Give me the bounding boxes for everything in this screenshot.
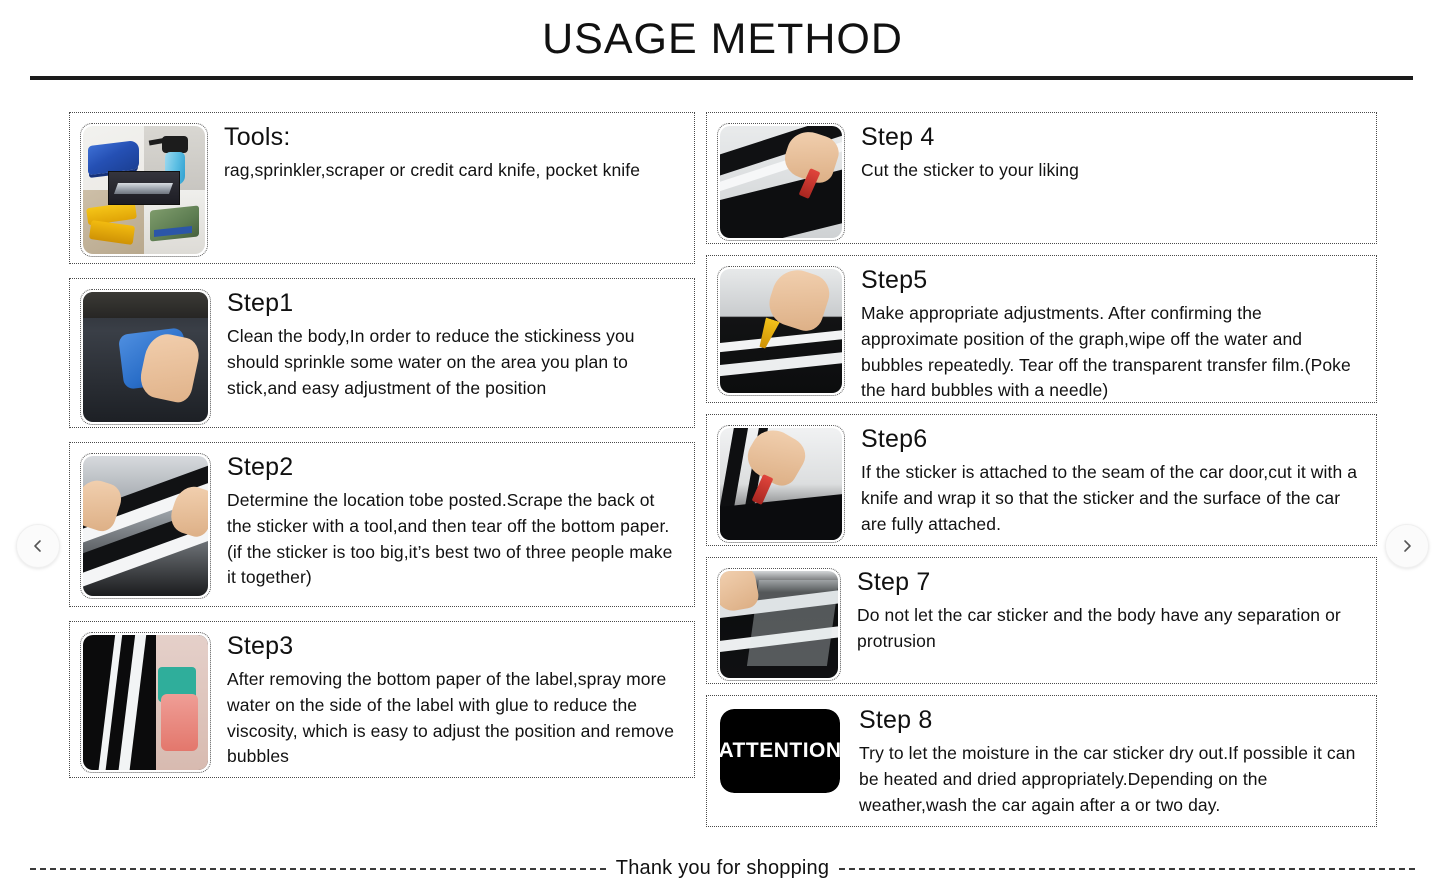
step2-thumbnail — [80, 453, 211, 599]
card-step3: Step3 After removing the bottom paper of… — [69, 621, 695, 778]
card-step4: Step 4 Cut the sticker to your liking — [706, 112, 1377, 244]
card-body: Step1 Clean the body,In order to reduce … — [211, 289, 682, 401]
step3-thumbnail — [80, 632, 211, 773]
card-body: Step5 Make appropriate adjustments. Afte… — [845, 266, 1364, 404]
footer: Thank you for shopping — [30, 857, 1415, 880]
card-body: Step 7 Do not let the car sticker and th… — [841, 568, 1364, 655]
step6-text: If the sticker is attached to the seam o… — [861, 460, 1364, 538]
positioning-sticker-on-car-image — [83, 456, 208, 596]
carousel-prev-button[interactable] — [16, 524, 60, 568]
cutting-sticker-at-door-seam-image — [720, 428, 842, 540]
cutting-sticker-with-knife-image — [720, 126, 842, 238]
step5-title: Step5 — [861, 266, 1364, 295]
card-body: Step2 Determine the location tobe posted… — [211, 453, 682, 591]
step5-thumbnail — [717, 266, 845, 396]
tools-thumbnail — [80, 123, 208, 257]
step4-title: Step 4 — [861, 123, 1364, 152]
step3-title: Step3 — [227, 632, 682, 661]
card-body: Tools: rag,sprinkler,scraper or credit c… — [208, 123, 682, 184]
tools-text: rag,sprinkler,scraper or credit card kni… — [224, 158, 682, 184]
step3-text: After removing the bottom paper of the l… — [227, 667, 682, 771]
hand-wiping-car-hood-image — [83, 292, 208, 422]
card-step1: Step1 Clean the body,In order to reduce … — [69, 278, 695, 428]
step8-thumbnail: ATTENTION — [717, 706, 843, 796]
card-body: Step6 If the sticker is attached to the … — [845, 425, 1364, 537]
card-tools: Tools: rag,sprinkler,scraper or credit c… — [69, 112, 695, 264]
step2-title: Step2 — [227, 453, 682, 482]
step7-text: Do not let the car sticker and the body … — [857, 603, 1364, 655]
card-body: Step3 After removing the bottom paper of… — [211, 632, 682, 770]
page-title: USAGE METHOD — [0, 0, 1445, 63]
tools-collage-image — [83, 126, 205, 254]
left-column: Tools: rag,sprinkler,scraper or credit c… — [69, 112, 695, 778]
tools-title: Tools: — [224, 123, 682, 152]
squeegee-adjusting-sticker-image — [720, 269, 842, 393]
step4-text: Cut the sticker to your liking — [861, 158, 1364, 184]
step6-thumbnail — [717, 425, 845, 543]
step1-thumbnail — [80, 289, 211, 425]
card-step8: ATTENTION Step 8 Try to let the moisture… — [706, 695, 1377, 827]
footer-dash-right — [839, 868, 1415, 870]
card-body: Step 8 Try to let the moisture in the ca… — [843, 706, 1364, 818]
step7-thumbnail — [717, 568, 841, 681]
spraying-water-on-sticker-image — [83, 635, 208, 770]
step7-title: Step 7 — [857, 568, 1364, 597]
step1-title: Step1 — [227, 289, 682, 318]
pocket-knife-image — [109, 172, 180, 204]
chevron-left-icon — [31, 539, 45, 553]
step1-text: Clean the body,In order to reduce the st… — [227, 324, 682, 402]
step6-title: Step6 — [861, 425, 1364, 454]
footer-text: Thank you for shopping — [616, 857, 829, 880]
title-divider — [30, 76, 1413, 80]
step5-text: Make appropriate adjustments. After conf… — [861, 301, 1364, 405]
chevron-right-icon — [1400, 539, 1414, 553]
attention-black-badge: ATTENTION — [720, 709, 840, 793]
step4-thumbnail — [717, 123, 845, 241]
step8-title: Step 8 — [859, 706, 1364, 735]
carousel-next-button[interactable] — [1385, 524, 1429, 568]
card-step7: Step 7 Do not let the car sticker and th… — [706, 557, 1377, 684]
right-column: Step 4 Cut the sticker to your liking St… — [706, 112, 1377, 827]
card-step6: Step6 If the sticker is attached to the … — [706, 414, 1377, 546]
peeling-transfer-film-image — [720, 571, 838, 678]
card-step2: Step2 Determine the location tobe posted… — [69, 442, 695, 607]
card-body: Step 4 Cut the sticker to your liking — [845, 123, 1364, 184]
step8-text: Try to let the moisture in the car stick… — [859, 741, 1364, 819]
step2-text: Determine the location tobe posted.Scrap… — [227, 488, 682, 592]
footer-dash-left — [30, 868, 606, 870]
attention-label: ATTENTION — [720, 739, 840, 763]
card-step5: Step5 Make appropriate adjustments. Afte… — [706, 255, 1377, 403]
steps-columns: Tools: rag,sprinkler,scraper or credit c… — [0, 112, 1445, 827]
